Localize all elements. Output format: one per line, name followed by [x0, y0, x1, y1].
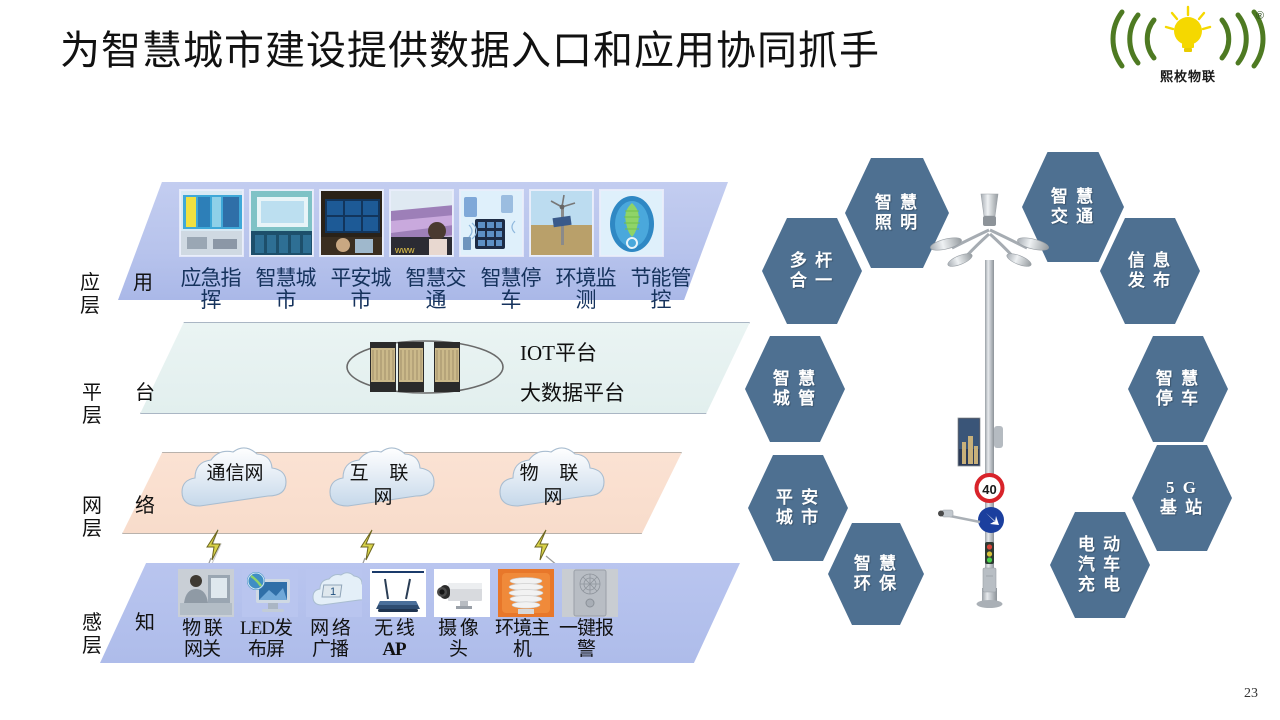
iot-gateway-icon: [178, 569, 234, 617]
cloud-communication-network: 通信网: [170, 444, 300, 524]
platform-texts: IOT平台 大数据平台: [520, 334, 625, 414]
hexagon-label: 5 G基 站: [1160, 478, 1204, 518]
cloud-label-line2: 网: [488, 486, 618, 510]
application-item-labels: 应急指挥 智慧城市 平安城市 智慧交通 智慧停车 环境监测 节能管控: [173, 268, 773, 312]
hexagon-label-line: 充 电: [1078, 575, 1122, 595]
perception-item-label: LED发 布屏: [234, 619, 298, 660]
hexagon-label-line: 照 明: [875, 213, 919, 233]
perception-label-line2: 机: [490, 640, 554, 661]
perception-layer-label: 感 知 层: [82, 612, 172, 658]
hexagon-label-line: 环 保: [854, 574, 898, 594]
hexagon-label: 智 慧环 保: [854, 554, 898, 594]
svg-text:1: 1: [330, 586, 336, 598]
perception-label-line1: 网 络: [298, 619, 362, 640]
speed-limit-value: 40: [982, 482, 996, 497]
cloud-label: 通信网: [170, 462, 300, 486]
network-broadcast-icon: 1: [306, 569, 362, 617]
app-item-label: 平安城市: [323, 268, 398, 312]
hexagon-label: 智 慧停 车: [1156, 369, 1200, 409]
app-thumb-environment-monitoring: [530, 190, 593, 256]
hexagon-info-publishing[interactable]: 信 息发 布: [1100, 218, 1200, 324]
perception-label-line2: 广播: [298, 640, 362, 661]
hexagon-label-line: 多 杆: [790, 251, 834, 271]
logo-mark: [1108, 4, 1268, 74]
cloud-label-line1: 通信网: [170, 462, 300, 486]
page-number: 23: [1244, 686, 1258, 702]
hexagon-label: 智 慧交 通: [1051, 187, 1095, 227]
page-title: 为智慧城市建设提供数据入口和应用协同抓手: [60, 18, 880, 76]
perception-label-line2: 头: [426, 640, 490, 661]
app-thumb-smart-parking: [460, 190, 523, 256]
hexagon-label-line: 智 慧: [1051, 187, 1095, 207]
hexagon-label-line: 智 慧: [1156, 369, 1200, 389]
app-item-label: 节能管控: [623, 268, 698, 312]
hexagon-label: 智 慧照 明: [875, 193, 919, 233]
hexagon-label-line: 发 布: [1128, 271, 1172, 291]
hexagon-label-line: 5 G: [1160, 478, 1204, 498]
perception-label-line1: 一键报: [554, 619, 618, 640]
perception-item-label: 无 线 AP: [362, 619, 426, 660]
perception-label-line1: 物 联: [170, 619, 234, 640]
perception-label-line2: 布屏: [234, 640, 298, 661]
server-rack-cluster-icon: [340, 336, 510, 398]
hexagon-label-line: 信 息: [1128, 251, 1172, 271]
application-layer-label: 应 用 层: [80, 272, 170, 318]
hexagon-5g-base-station[interactable]: 5 G基 站: [1132, 445, 1232, 551]
smart-multifunction-pole: 40: [930, 190, 1050, 620]
app-item-label: 环境监测: [548, 268, 623, 312]
led-display-icon: [242, 569, 298, 617]
hexagon-smart-urban-mgmt[interactable]: 智 慧城 管: [745, 336, 845, 442]
layer-label-line2: 层: [80, 295, 170, 318]
application-layer: www 应急指挥 智慧城市 平安城市 智慧交通 智慧停车 环境监测 节能管控: [118, 182, 728, 300]
app-thumb-safe-city: [320, 190, 383, 256]
app-thumb-emergency: [180, 190, 243, 256]
hexagon-label-line: 基 站: [1160, 498, 1204, 518]
hexagon-label-line: 智 慧: [854, 554, 898, 574]
hexagon-label: 平 安城 市: [776, 488, 820, 528]
layer-label-line2: 层: [82, 405, 172, 428]
perception-label-line1: 无 线: [362, 619, 426, 640]
platform-layer: IOT平台 大数据平台: [140, 322, 750, 414]
perception-label-line1: 环境主: [490, 619, 554, 640]
app-item-label: 智慧交通: [398, 268, 473, 312]
camera-icon: [434, 569, 490, 617]
hexagon-label-line: 平 安: [776, 488, 820, 508]
hexagon-safe-city[interactable]: 平 安城 市: [748, 455, 848, 561]
perception-label-line2: 网关: [170, 640, 234, 661]
hexagon-label-line: 城 管: [773, 389, 817, 409]
perception-item-label: 环境主 机: [490, 619, 554, 660]
wireless-ap-icon: [370, 569, 426, 617]
perception-label-line1: 摄 像: [426, 619, 490, 640]
layer-label-line2: 层: [82, 635, 172, 658]
hexagon-ev-charging[interactable]: 电 动汽 车充 电: [1050, 512, 1150, 618]
perception-label-line1: LED发: [234, 619, 298, 640]
app-item-label: 智慧城市: [248, 268, 323, 312]
app-item-label: 应急指挥: [173, 268, 248, 312]
hexagon-label: 电 动汽 车充 电: [1078, 535, 1122, 595]
hexagon-label-line: 智 慧: [773, 369, 817, 389]
platform-text-bigdata: 大数据平台: [520, 374, 625, 414]
cloud-label: 物 联 网: [488, 462, 618, 510]
perception-item-label: 一键报 警: [554, 619, 618, 660]
layer-label-line2: 层: [82, 518, 172, 541]
perception-icon-strip: 1: [178, 569, 618, 617]
svg-text:www: www: [394, 245, 415, 255]
cloud-iot-network: 物 联 网: [488, 444, 618, 524]
slide-canvas: 为智慧城市建设提供数据入口和应用协同抓手 ® 熙枚物联: [0, 0, 1280, 720]
hexagon-label-line: 停 车: [1156, 389, 1200, 409]
network-layer-label: 网 络 层: [82, 495, 172, 541]
layer-label-line1: 感 知: [82, 612, 172, 635]
application-thumbnail-strip: www: [180, 190, 663, 256]
company-logo: ® 熙枚物联: [1108, 4, 1268, 90]
perception-item-label: 物 联 网关: [170, 619, 234, 660]
platform-layer-label: 平 台 层: [82, 382, 172, 428]
cloud-label-line1: 互 联: [318, 462, 448, 486]
app-thumb-smart-traffic: www: [390, 190, 453, 256]
hexagon-smart-environment[interactable]: 智 慧环 保: [828, 523, 924, 625]
perception-item-labels: 物 联 网关 LED发 布屏 网 络 广播 无 线 AP 摄 像 头 环境主 机: [170, 619, 618, 660]
layer-label-line1: 平 台: [82, 382, 172, 405]
emergency-call-icon: [562, 569, 618, 617]
perception-label-line2: AP: [362, 640, 426, 661]
cloud-label: 互 联 网: [318, 462, 448, 510]
perception-label-line2: 警: [554, 640, 618, 661]
app-item-label: 智慧停车: [473, 268, 548, 312]
hexagon-smart-parking[interactable]: 智 慧停 车: [1128, 336, 1228, 442]
hexagon-label: 智 慧城 管: [773, 369, 817, 409]
hexagon-label-line: 合 一: [790, 271, 834, 291]
cloud-label-line1: 物 联: [488, 462, 618, 486]
hexagon-label: 信 息发 布: [1128, 251, 1172, 291]
perception-item-label: 网 络 广播: [298, 619, 362, 660]
hexagon-label-line: 智 慧: [875, 193, 919, 213]
cloud-label-line2: 网: [318, 486, 448, 510]
app-thumb-smart-city: [250, 190, 313, 256]
registered-trademark-icon: ®: [1256, 10, 1264, 22]
layer-label-line1: 应 用: [80, 272, 170, 295]
cloud-internet: 互 联 网: [318, 444, 448, 524]
logo-company-name: 熙枚物联: [1108, 66, 1268, 85]
perception-item-label: 摄 像 头: [426, 619, 490, 660]
hexagon-label-line: 汽 车: [1078, 555, 1122, 575]
layer-label-line1: 网 络: [82, 495, 172, 518]
environment-host-icon: [498, 569, 554, 617]
hexagon-label: 多 杆合 一: [790, 251, 834, 291]
hexagon-label-line: 电 动: [1078, 535, 1122, 555]
app-thumb-energy-control: [600, 190, 663, 256]
hexagon-label-line: 交 通: [1051, 207, 1095, 227]
hexagon-multi-pole[interactable]: 多 杆合 一: [762, 218, 862, 324]
hexagon-label-line: 城 市: [776, 508, 820, 528]
perception-layer: 1 物 联 网关 LED发 布屏: [100, 563, 740, 663]
platform-text-iot: IOT平台: [520, 334, 625, 374]
